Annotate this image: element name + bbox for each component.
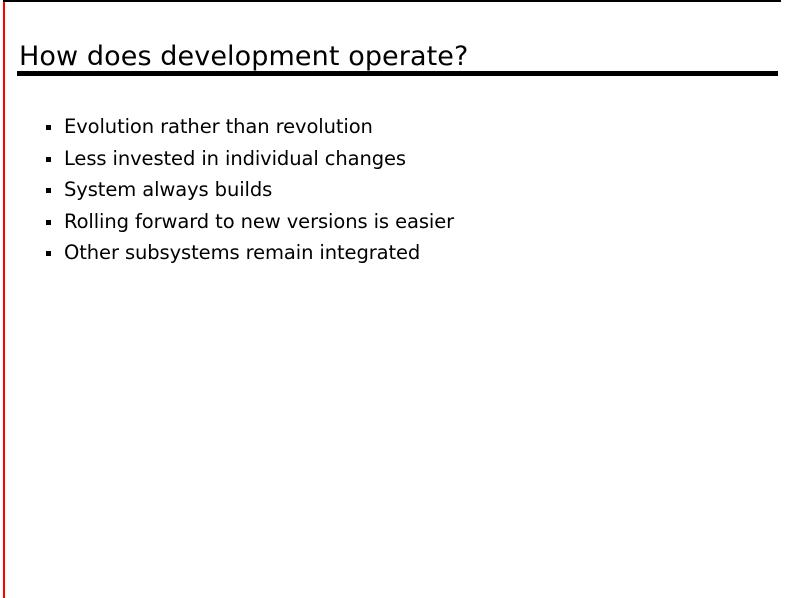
title-underline-rule (17, 71, 778, 76)
bullet-text: Evolution rather than revolution (64, 114, 746, 140)
presentation-slide: How does development operate? Evolution … (0, 0, 798, 598)
square-bullet-icon (46, 188, 51, 193)
bullet-text: Less invested in individual changes (64, 146, 746, 172)
bullet-text: Rolling forward to new versions is easie… (64, 209, 746, 235)
list-item: System always builds (46, 177, 746, 209)
slide-title: How does development operate? (19, 41, 468, 73)
list-item: Less invested in individual changes (46, 146, 746, 178)
list-item: Other subsystems remain integrated (46, 240, 746, 272)
square-bullet-icon (46, 157, 51, 162)
slide-bullet-list: Evolution rather than revolution Less in… (46, 114, 746, 272)
slide-top-border (3, 0, 781, 2)
square-bullet-icon (46, 251, 51, 256)
slide-left-red-accent (3, 2, 5, 598)
square-bullet-icon (46, 220, 51, 225)
bullet-text: System always builds (64, 177, 746, 203)
bullet-text: Other subsystems remain integrated (64, 240, 746, 266)
square-bullet-icon (46, 125, 51, 130)
list-item: Evolution rather than revolution (46, 114, 746, 146)
list-item: Rolling forward to new versions is easie… (46, 209, 746, 241)
